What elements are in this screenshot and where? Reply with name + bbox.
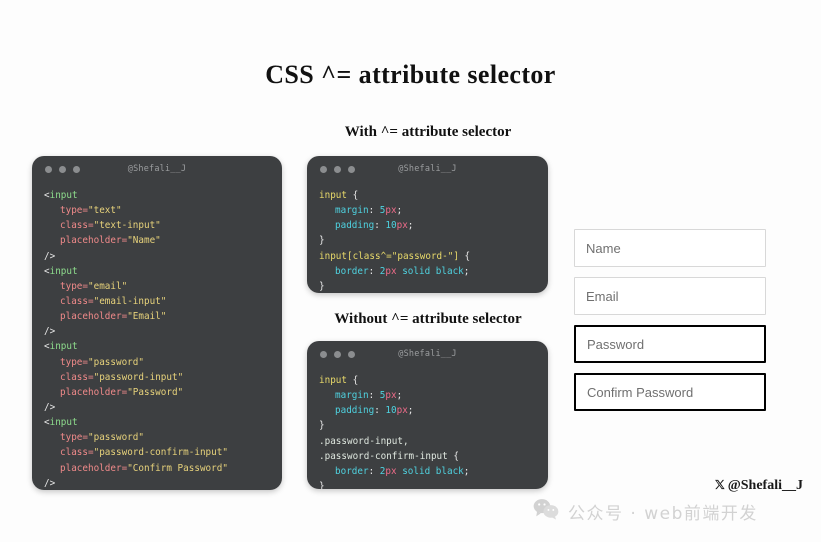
code-line: type="password"	[44, 355, 282, 370]
code-line: border: 2px solid black;	[319, 264, 548, 279]
page-title: CSS ^= attribute selector	[0, 60, 821, 90]
code-line: class="email-input"	[44, 294, 282, 309]
minimize-dot-icon[interactable]	[59, 166, 66, 173]
code-token: {	[448, 451, 459, 462]
code-line: />	[44, 324, 282, 339]
code-token: "email"	[88, 281, 127, 292]
code-token: ;	[464, 466, 470, 477]
css-without-code-block: input {margin: 5px;padding: 10px;}.passw…	[307, 367, 548, 489]
email-input[interactable]	[574, 277, 766, 315]
code-line: placeholder="Email"	[44, 309, 282, 324]
code-token: }	[319, 481, 325, 489]
x-twitter-icon	[714, 479, 725, 493]
maximize-dot-icon[interactable]	[348, 166, 355, 173]
code-token: input	[50, 417, 78, 428]
code-token: .password-input,	[319, 436, 409, 447]
code-token: placeholder	[60, 235, 122, 246]
code-token: />	[44, 251, 55, 262]
code-token: type	[60, 432, 82, 443]
html-code-block: <inputtype="text"class="text-input"place…	[32, 182, 282, 490]
code-token: "password-input"	[94, 372, 184, 383]
code-token: {	[347, 190, 358, 201]
code-token: class	[60, 296, 88, 307]
code-line: type="password"	[44, 430, 282, 445]
code-token: "text-input"	[94, 220, 161, 231]
code-token: input	[319, 375, 347, 386]
code-line: class="text-input"	[44, 218, 282, 233]
code-line: input {	[319, 373, 548, 388]
code-token: "text"	[88, 205, 122, 216]
code-token: type	[60, 281, 82, 292]
code-token: :	[369, 466, 380, 477]
code-token: "Email"	[127, 311, 166, 322]
window-titlebar: @Shefali__J	[32, 156, 282, 182]
code-line: />	[44, 400, 282, 415]
code-token: padding	[335, 405, 374, 416]
code-token: :	[369, 205, 380, 216]
css-with-code-window: @Shefali__J input {margin: 5px;padding: …	[307, 156, 548, 293]
code-token: class	[60, 372, 88, 383]
code-line: type="email"	[44, 279, 282, 294]
with-section-title: With ^= attribute selector	[298, 124, 558, 141]
code-line: .password-confirm-input {	[319, 449, 548, 464]
code-token: ;	[397, 205, 403, 216]
code-token: "password-confirm-input"	[94, 447, 228, 458]
code-token: type	[60, 205, 82, 216]
code-token: ;	[397, 390, 403, 401]
code-token: :	[374, 220, 385, 231]
code-line: class="password-confirm-input"	[44, 445, 282, 460]
without-section-title: Without ^= attribute selector	[298, 311, 558, 328]
css-with-code-block: input {margin: 5px;padding: 10px;}input[…	[307, 182, 548, 293]
window-titlebar: @Shefali__J	[307, 341, 548, 367]
code-line: <input	[44, 339, 282, 354]
code-line: />	[44, 476, 282, 490]
code-token: margin	[335, 205, 369, 216]
code-token: }	[319, 420, 325, 431]
code-line: placeholder="Password"	[44, 385, 282, 400]
code-line: input[class^="password-"] {	[319, 249, 548, 264]
code-token: input	[50, 341, 78, 352]
code-token: ;	[464, 266, 470, 277]
code-token: }	[319, 281, 325, 292]
code-token: border	[335, 266, 369, 277]
code-line: input {	[319, 188, 548, 203]
code-token: class	[60, 447, 88, 458]
wechat-icon	[533, 498, 559, 525]
code-token: />	[44, 478, 55, 489]
code-token: 10	[385, 405, 396, 416]
code-token: "Name"	[127, 235, 161, 246]
code-token: px	[385, 466, 396, 477]
code-line: padding: 10px;	[319, 218, 548, 233]
minimize-dot-icon[interactable]	[334, 351, 341, 358]
window-controls	[320, 351, 355, 358]
code-token: px	[397, 405, 408, 416]
code-line: type="text"	[44, 203, 282, 218]
wechat-label: 公众号 · web前端开发	[568, 499, 758, 524]
code-token: placeholder	[60, 387, 122, 398]
code-token: :	[369, 266, 380, 277]
code-line: placeholder="Confirm Password"	[44, 461, 282, 476]
code-token: "email-input"	[94, 296, 167, 307]
name-input[interactable]	[574, 229, 766, 267]
author-credit: @Shefali__J	[714, 478, 803, 494]
demo-form-preview	[574, 229, 766, 421]
code-token: solid black	[397, 466, 464, 477]
code-token: input[class^="password-"]	[319, 251, 459, 262]
code-token: border	[335, 466, 369, 477]
minimize-dot-icon[interactable]	[334, 166, 341, 173]
code-line: padding: 10px;	[319, 403, 548, 418]
maximize-dot-icon[interactable]	[73, 166, 80, 173]
code-token: "Confirm Password"	[127, 463, 228, 474]
code-token: margin	[335, 390, 369, 401]
code-token: ;	[408, 405, 414, 416]
code-line: class="password-input"	[44, 370, 282, 385]
code-line: <input	[44, 188, 282, 203]
css-without-code-window: @Shefali__J input {margin: 5px;padding: …	[307, 341, 548, 489]
code-token: }	[319, 235, 325, 246]
wechat-watermark: 公众号 · web前端开发	[533, 498, 758, 525]
code-token: />	[44, 402, 55, 413]
confirm-password-input[interactable]	[574, 373, 766, 411]
code-token: {	[347, 375, 358, 386]
code-line: .password-input,	[319, 434, 548, 449]
code-line: <input	[44, 264, 282, 279]
code-token: padding	[335, 220, 374, 231]
code-token: class	[60, 220, 88, 231]
code-line: <input	[44, 415, 282, 430]
password-input[interactable]	[574, 325, 766, 363]
window-controls	[320, 166, 355, 173]
code-token: px	[385, 205, 396, 216]
code-token: :	[369, 390, 380, 401]
html-code-window: @Shefali__J <inputtype="text"class="text…	[32, 156, 282, 490]
code-token: 10	[385, 220, 396, 231]
code-token: {	[459, 251, 470, 262]
code-token: type	[60, 357, 82, 368]
page-root: CSS ^= attribute selector @Shefali__J <i…	[0, 0, 821, 542]
close-dot-icon[interactable]	[45, 166, 52, 173]
code-token: px	[385, 266, 396, 277]
code-token: .password-confirm-input	[319, 451, 448, 462]
close-dot-icon[interactable]	[320, 166, 327, 173]
code-token: input	[319, 190, 347, 201]
code-line: }	[319, 479, 548, 489]
author-handle: @Shefali__J	[728, 478, 803, 494]
code-line: />	[44, 249, 282, 264]
code-line: }	[319, 418, 548, 433]
code-token: "Password"	[127, 387, 183, 398]
code-token: input	[50, 266, 78, 277]
code-line: border: 2px solid black;	[319, 464, 548, 479]
code-token: :	[374, 405, 385, 416]
code-line: }	[319, 233, 548, 248]
code-line: margin: 5px;	[319, 388, 548, 403]
code-token: "password"	[88, 432, 144, 443]
code-token: placeholder	[60, 311, 122, 322]
code-line: margin: 5px;	[319, 203, 548, 218]
code-line: placeholder="Name"	[44, 233, 282, 248]
code-token: px	[385, 390, 396, 401]
code-token: />	[44, 326, 55, 337]
window-controls	[45, 166, 80, 173]
code-token: solid black	[397, 266, 464, 277]
code-token: ;	[408, 220, 414, 231]
code-token: input	[50, 190, 78, 201]
code-token: placeholder	[60, 463, 122, 474]
window-titlebar: @Shefali__J	[307, 156, 548, 182]
code-token: "password"	[88, 357, 144, 368]
code-token: px	[397, 220, 408, 231]
maximize-dot-icon[interactable]	[348, 351, 355, 358]
code-line: }	[319, 279, 548, 293]
close-dot-icon[interactable]	[320, 351, 327, 358]
